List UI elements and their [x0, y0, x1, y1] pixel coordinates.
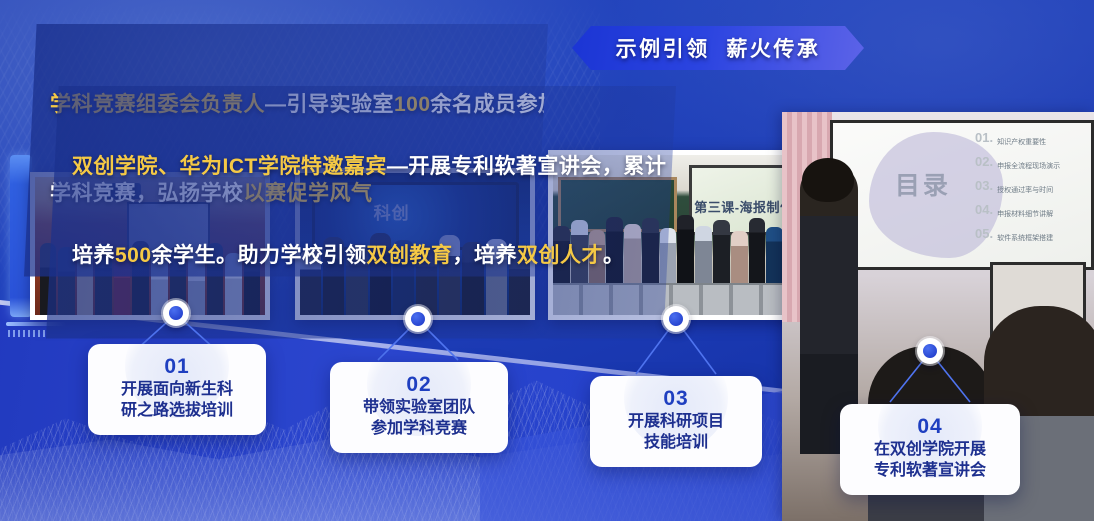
para2-rest-a: —开展专利软著宣讲会，累计	[387, 155, 667, 178]
step-card-02[interactable]: 02 带领实验室团队 参加学科竞赛	[330, 362, 508, 453]
step-number: 02	[344, 374, 494, 396]
para2-rest-e: 。	[603, 244, 625, 267]
toc-number: 01.	[975, 131, 993, 144]
toc-label: 授权通过率与时间	[997, 187, 1053, 194]
step-card-03[interactable]: 03 开展科研项目 技能培训	[590, 376, 762, 467]
list-item: 03. 授权通过率与时间	[975, 179, 1087, 197]
list-item: 01. 知识产权重要性	[975, 131, 1087, 149]
para2-highlight-b: 双创教育	[367, 244, 453, 267]
connector-dot-3[interactable]	[663, 306, 689, 332]
toc-number: 03.	[975, 179, 993, 192]
slide-toc-list: 01. 知识产权重要性 02. 申报全流程现场演示 03.	[975, 131, 1087, 251]
ribbon-banner: 示例引领 薪火传承	[572, 26, 864, 70]
step-number: 01	[102, 356, 252, 378]
connector-dot-1[interactable]	[163, 300, 189, 326]
slide-title: 目录	[895, 166, 951, 202]
poster-canvas: 科创 第三课-海报制作	[0, 0, 1094, 521]
para2-highlight-a: 双创学院、华为ICT学院特邀嘉宾	[72, 155, 387, 178]
step-label: 在双创学院开展 专利软著宣讲会	[854, 440, 1006, 481]
para2-count: 500	[115, 244, 152, 267]
step-card-04[interactable]: 04 在双创学院开展 专利软著宣讲会	[840, 404, 1020, 495]
connector-dot-4[interactable]	[917, 338, 943, 364]
ribbon-title: 示例引领 薪火传承	[616, 33, 821, 63]
toc-label: 软件系统框架搭建	[997, 235, 1053, 242]
toc-number: 02.	[975, 155, 993, 168]
toc-label: 申报全流程现场演示	[997, 163, 1060, 170]
toc-number: 04.	[975, 203, 993, 216]
para2-rest-b: 培养	[72, 244, 115, 267]
step-number: 03	[604, 388, 748, 410]
presentation-slide: 目录 01. 知识产权重要性 02. 申报全流程现场演示	[830, 120, 1094, 270]
para2-highlight-c: 双创人才	[517, 244, 603, 267]
toc-number: 05.	[975, 227, 993, 240]
step-label: 开展面向新生科 研之路选拔培训	[102, 380, 252, 421]
step-label: 带领实验室团队 参加学科竞赛	[344, 398, 494, 439]
step-number: 04	[854, 416, 1006, 438]
step-label: 开展科研项目 技能培训	[604, 412, 748, 453]
para2-rest-d: ，培养	[453, 244, 518, 267]
headline-secondary: 双创学院、华为ICT学院特邀嘉宾—开展专利软著宣讲会，累计 培养500余学生。助…	[46, 86, 676, 339]
toc-label: 知识产权重要性	[997, 139, 1046, 146]
list-item: 04. 申报材料细节讲解	[975, 203, 1087, 221]
connector-dot-2[interactable]	[405, 306, 431, 332]
toc-label: 申报材料细节讲解	[997, 211, 1053, 218]
step-card-01[interactable]: 01 开展面向新生科 研之路选拔培训	[88, 344, 266, 435]
speaker-hair-shape	[802, 158, 854, 202]
list-item: 05. 软件系统框架搭建	[975, 227, 1087, 245]
para2-rest-c: 余学生。助力学校引领	[152, 244, 367, 267]
list-item: 02. 申报全流程现场演示	[975, 155, 1087, 173]
left-bar-tick-decoration	[8, 330, 46, 337]
